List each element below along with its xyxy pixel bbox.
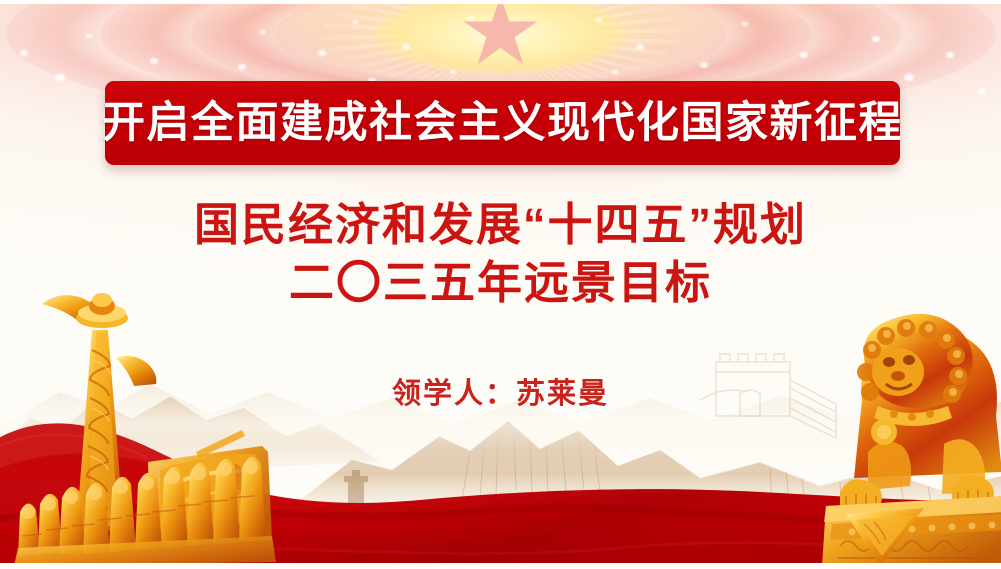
headline-text: 开启全面建成社会主义现代化国家新征程 [102,102,903,145]
main-title-line-2: 二〇三五年远景目标 [0,254,1001,312]
top-white-trim [0,0,1001,4]
main-title-line-1: 国民经济和发展“十四五”规划 [0,196,1001,254]
presentation-slide: 开启全面建成社会主义现代化国家新征程 国民经济和发展“十四五”规划 二〇三五年远… [0,0,1001,569]
headline-banner: 开启全面建成社会主义现代化国家新征程 [105,81,900,165]
bottom-white-trim [0,563,1001,569]
main-title-block: 国民经济和发展“十四五”规划 二〇三五年远景目标 [0,196,1001,312]
slide-content: 开启全面建成社会主义现代化国家新征程 国民经济和发展“十四五”规划 二〇三五年远… [0,0,1001,569]
presenter-label: 领学人：苏莱曼 [0,370,1001,412]
